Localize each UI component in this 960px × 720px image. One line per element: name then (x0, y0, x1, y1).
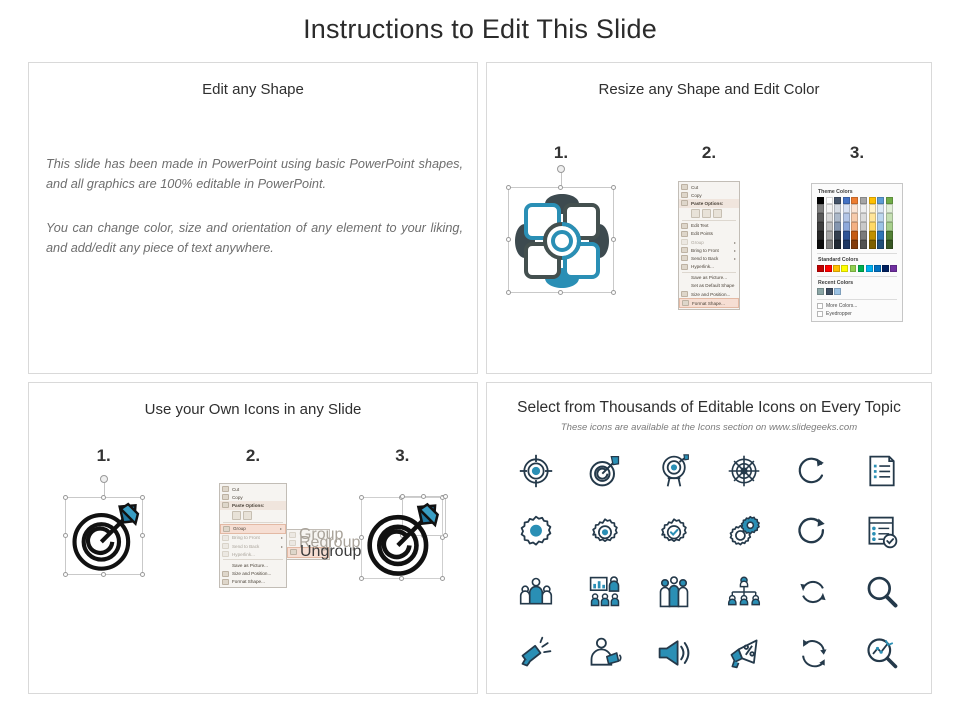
hyperlink-icon (681, 264, 688, 270)
four-square-hub-icon (509, 188, 615, 294)
step-number-2: 2. (178, 446, 327, 466)
edit-points-icon (681, 231, 688, 237)
format-shape-icon (682, 300, 689, 306)
presentation-team-icon[interactable] (584, 571, 626, 613)
menu-label: Size and Position... (691, 292, 730, 297)
color-swatch[interactable] (866, 265, 873, 272)
menu-label: Save as Picture... (232, 563, 268, 568)
recent-colors-label: Recent Colors (818, 280, 897, 286)
size-position-icon (222, 571, 229, 577)
panel-use-own-icons: Use your Own Icons in any Slide 1. 2. 3. (28, 382, 478, 694)
color-swatch[interactable] (869, 240, 876, 249)
resize-handle-bottom-right[interactable] (140, 572, 145, 577)
color-swatch[interactable] (826, 213, 833, 222)
group-icon (223, 526, 230, 532)
step-number-1: 1. (487, 143, 635, 163)
resize-handle-top-left[interactable] (506, 185, 511, 190)
color-swatch[interactable] (833, 265, 840, 272)
megaphone-icon[interactable] (515, 632, 557, 674)
palette-divider (817, 276, 897, 277)
icon-gallery-grid (501, 441, 917, 683)
figure-context-menu-group: Cut Copy Paste Options: Group▸ Bring to … (178, 483, 327, 588)
menu-label: Paste Options: (691, 201, 723, 206)
target-stand-icon[interactable] (653, 450, 695, 492)
color-swatch[interactable] (886, 222, 893, 231)
color-swatch[interactable] (886, 231, 893, 240)
palette-divider (817, 253, 897, 254)
color-swatch[interactable] (860, 197, 867, 204)
menu-item-bring-to-front[interactable]: Bring to Front▸ (679, 246, 739, 254)
menu-label: Format Shape... (692, 301, 725, 306)
step-number-3: 3. (783, 143, 931, 163)
eyedropper-button[interactable]: Eyedropper (817, 311, 897, 317)
color-swatch[interactable] (826, 240, 833, 249)
menu-item-paste-options[interactable]: Paste Options: (220, 501, 286, 509)
palette-divider (817, 299, 897, 300)
color-swatch[interactable] (817, 231, 824, 240)
color-swatch[interactable] (817, 288, 824, 295)
description-paragraph-2: You can change color, size and orientati… (46, 219, 463, 258)
color-swatch[interactable] (817, 204, 824, 213)
color-swatch[interactable] (860, 204, 867, 213)
eyedropper-icon (817, 311, 823, 317)
menu-item-size-and-position[interactable]: Size and Position... (679, 290, 739, 298)
menu-label: Ungroup (300, 543, 361, 561)
menu-label: Send to Back (691, 256, 718, 261)
target-dart-icon[interactable] (584, 450, 626, 492)
icon-multi-selection-frame[interactable] (361, 497, 443, 579)
menu-label: Save as Picture... (691, 275, 727, 280)
menu-label: Format Shape... (232, 579, 265, 584)
color-swatch[interactable] (843, 240, 850, 249)
resize-handle-middle-right[interactable] (611, 237, 616, 242)
color-swatch[interactable] (877, 197, 884, 204)
gear-solid-icon[interactable] (515, 511, 557, 553)
color-swatch[interactable] (860, 231, 867, 240)
color-swatch[interactable] (826, 197, 833, 204)
hyperlink-icon (222, 551, 229, 557)
menu-label: Copy (691, 193, 702, 198)
menu-item-hyperlink[interactable]: Hyperlink... (679, 263, 739, 271)
theme-tint-row[interactable] (817, 213, 897, 222)
menu-item-size-and-position[interactable]: Size and Position... (220, 570, 286, 578)
gear-check-icon[interactable] (653, 511, 695, 553)
bring-front-icon (681, 247, 688, 253)
chevron-right-icon: ▸ (734, 256, 736, 261)
menu-item-group[interactable]: Group▸ (679, 238, 739, 246)
resize-handle-middle-left[interactable] (63, 533, 68, 538)
color-swatch[interactable] (886, 213, 893, 222)
group-submenu[interactable]: Group Regroup Ungroup (286, 529, 330, 560)
refresh-arrow-icon[interactable] (792, 450, 834, 492)
theme-tint-row[interactable] (817, 204, 897, 213)
theme-tint-row[interactable] (817, 222, 897, 231)
format-shape-icon (222, 579, 229, 585)
resize-handle-bottom-left[interactable] (506, 290, 511, 295)
send-back-icon (681, 255, 688, 261)
menu-item-send-to-back[interactable]: Send to Back▸ (679, 254, 739, 262)
color-swatch[interactable] (851, 204, 858, 213)
standard-colors-row[interactable] (817, 265, 897, 272)
regroup-icon (289, 540, 296, 546)
color-swatch[interactable] (850, 265, 857, 272)
color-swatch[interactable] (869, 231, 876, 240)
document-checklist-icon[interactable] (861, 450, 903, 492)
person-megaphone-icon[interactable] (584, 632, 626, 674)
menu-label: Edit Points (691, 231, 713, 236)
menu-label: Set as Default Shape (691, 283, 734, 288)
figure-color-palette: Theme Colors Standard Colors Recent Colo… (783, 173, 931, 322)
step-number-1: 1. (29, 446, 178, 466)
menu-item-copy[interactable]: Copy (679, 191, 739, 199)
more-colors-label: More Colors... (826, 303, 857, 309)
chevron-right-icon: ▸ (734, 240, 736, 245)
menu-item-paste-options[interactable]: Paste Options: (679, 199, 739, 207)
color-swatch[interactable] (817, 197, 824, 204)
color-swatch[interactable] (858, 265, 865, 272)
color-swatch[interactable] (851, 231, 858, 240)
panel-title-own-icons: Use your Own Icons in any Slide (29, 401, 477, 418)
color-swatch[interactable] (860, 222, 867, 231)
reload-arrow-icon[interactable] (792, 511, 834, 553)
color-swatch[interactable] (869, 197, 876, 204)
target-dart-icon (66, 498, 144, 576)
step-number-row-bottom: 1. 2. 3. (29, 446, 477, 466)
edit-text-icon (681, 223, 688, 229)
paste-merge-formatting-button[interactable] (702, 209, 711, 218)
menu-label: Bring to Front (691, 248, 719, 253)
more-colors-button[interactable]: More Colors... (817, 303, 897, 309)
team-standing-icon[interactable] (653, 571, 695, 613)
menu-label: Group (233, 526, 246, 531)
chevron-right-icon: ▸ (734, 248, 736, 253)
checklist-approved-icon[interactable] (861, 511, 903, 553)
menu-item-save-as-picture[interactable]: Save as Picture... (220, 561, 286, 569)
menu-item-copy[interactable]: Copy (220, 493, 286, 501)
menu-label: Hyperlink... (232, 552, 255, 557)
panel-title-edit-shape: Edit any Shape (29, 81, 477, 98)
crosshair-scope-icon[interactable] (723, 450, 765, 492)
color-swatch[interactable] (817, 240, 824, 249)
figure-context-menu: Cut Copy Paste Options: Edit Text Edit P… (635, 173, 783, 322)
color-swatch[interactable] (877, 222, 884, 231)
menu-item-edit-text[interactable]: Edit Text (679, 222, 739, 230)
paste-keep-formatting-button[interactable] (232, 511, 241, 520)
rotation-handle[interactable] (557, 165, 565, 173)
color-swatch[interactable] (886, 240, 893, 249)
color-swatch[interactable] (834, 213, 841, 222)
color-swatch[interactable] (834, 240, 841, 249)
menu-item-send-to-back[interactable]: Send to Back▸ (220, 542, 286, 550)
menu-label: Group (691, 240, 704, 245)
step-number-3: 3. (328, 446, 477, 466)
step-number-2: 2. (635, 143, 783, 163)
send-back-icon (222, 543, 229, 549)
resize-handle-top-middle[interactable] (558, 185, 563, 190)
paste-picture-button[interactable] (713, 209, 722, 218)
resize-handle-middle-left[interactable] (506, 237, 511, 242)
color-swatch[interactable] (886, 197, 893, 204)
group-icon (681, 239, 688, 245)
color-swatch[interactable] (826, 231, 833, 240)
chevron-right-icon: ▸ (280, 526, 282, 531)
menu-item-save-as-picture[interactable]: Save as Picture... (679, 274, 739, 282)
panel-title-resize-shape: Resize any Shape and Edit Color (487, 81, 931, 98)
resize-handle-top-right[interactable] (140, 495, 145, 500)
menu-item-cut[interactable]: Cut (679, 183, 739, 191)
color-swatch[interactable] (825, 265, 832, 272)
color-swatch[interactable] (843, 222, 850, 231)
rotation-handle[interactable] (100, 475, 108, 483)
color-swatch[interactable] (886, 204, 893, 213)
color-swatch[interactable] (826, 204, 833, 213)
people-group-icon[interactable] (515, 571, 557, 613)
step-number-row-top: 1. 2. 3. (487, 143, 931, 163)
paste-option-buttons (679, 208, 739, 219)
description-paragraph-1: This slide has been made in PowerPoint u… (46, 155, 463, 194)
color-swatch[interactable] (890, 265, 897, 272)
group-icon (289, 532, 296, 538)
shape-selection-frame[interactable] (508, 187, 614, 293)
menu-divider (682, 220, 736, 221)
resize-handle-top-left[interactable] (63, 495, 68, 500)
cut-icon (681, 184, 688, 190)
resize-handle-bottom-middle[interactable] (558, 290, 563, 295)
color-swatch[interactable] (877, 204, 884, 213)
color-swatch[interactable] (877, 231, 884, 240)
panel-subtitle-icons-source: These icons are available at the Icons s… (487, 422, 931, 433)
loudspeaker-icon[interactable] (653, 632, 695, 674)
theme-colors-tint-rows[interactable] (817, 204, 897, 249)
icon-context-menu[interactable]: Cut Copy Paste Options: Group▸ Bring to … (219, 483, 287, 588)
color-swatch[interactable] (860, 213, 867, 222)
recent-colors-row[interactable] (817, 288, 897, 295)
resize-handle-top-middle[interactable] (101, 495, 106, 500)
menu-label: Size and Position... (232, 571, 271, 576)
resize-handle-bottom-right[interactable] (611, 290, 616, 295)
menu-divider (223, 522, 283, 523)
color-swatch[interactable] (843, 204, 850, 213)
menu-label: Cut (232, 487, 239, 492)
sync-arrows-icon[interactable] (792, 571, 834, 613)
menu-item-group[interactable]: Group▸ (220, 524, 286, 534)
color-swatch[interactable] (882, 265, 889, 272)
step-figure-row-bottom: Cut Copy Paste Options: Group▸ Bring to … (29, 483, 477, 588)
circular-arrows-icon[interactable] (792, 632, 834, 674)
menu-item-cut[interactable]: Cut (220, 485, 286, 493)
resize-handle-top-right[interactable] (611, 185, 616, 190)
menu-divider (682, 272, 736, 273)
chevron-right-icon: ▸ (281, 544, 283, 549)
menu-label: Edit Text (691, 223, 709, 228)
figure-grouped-icon (29, 483, 178, 588)
menu-item-bring-to-front[interactable]: Bring to Front▸ (220, 534, 286, 542)
megaphone-discount-icon[interactable] (723, 632, 765, 674)
size-position-icon (681, 291, 688, 297)
menu-item-set-default-shape[interactable]: Set as Default Shape (679, 282, 739, 290)
color-picker-dropdown[interactable]: Theme Colors Standard Colors Recent Colo… (811, 183, 903, 322)
org-chart-icon[interactable] (723, 571, 765, 613)
color-swatch[interactable] (817, 265, 824, 272)
color-swatch[interactable] (817, 213, 824, 222)
menu-label: Bring to Front (232, 535, 260, 540)
paste-option-buttons (220, 510, 286, 521)
page-title: Instructions to Edit This Slide (0, 14, 960, 45)
color-swatch[interactable] (817, 222, 824, 231)
step-figure-row-top: Cut Copy Paste Options: Edit Text Edit P… (487, 173, 931, 322)
color-swatch[interactable] (877, 240, 884, 249)
color-swatch[interactable] (843, 213, 850, 222)
panel-edit-any-shape: Edit any Shape This slide has been made … (28, 62, 478, 374)
theme-tint-row[interactable] (817, 231, 897, 240)
color-swatch[interactable] (841, 265, 848, 272)
resize-handle-bottom-left[interactable] (63, 572, 68, 577)
color-swatch[interactable] (877, 213, 884, 222)
magnifier-analytics-icon[interactable] (861, 632, 903, 674)
panel-editable-icons: Select from Thousands of Editable Icons … (486, 382, 932, 694)
color-swatch[interactable] (843, 231, 850, 240)
figure-selected-shape (487, 173, 635, 322)
ungroup-icon (290, 549, 297, 555)
menu-label: Paste Options: (232, 503, 264, 508)
color-swatch[interactable] (851, 197, 858, 204)
theme-colors-base-row[interactable] (817, 197, 897, 204)
color-swatch[interactable] (851, 240, 858, 249)
crosshair-target-icon[interactable] (515, 450, 557, 492)
menu-label: Hyperlink... (691, 264, 714, 269)
target-dart-icon (362, 498, 444, 580)
standard-colors-label: Standard Colors (818, 257, 897, 263)
magnifier-icon[interactable] (861, 571, 903, 613)
color-swatch[interactable] (834, 197, 841, 204)
gear-dot-icon[interactable] (584, 511, 626, 553)
resize-handle-bottom-middle[interactable] (101, 572, 106, 577)
menu-label: Copy (232, 495, 243, 500)
theme-tint-row[interactable] (817, 240, 897, 249)
color-swatch[interactable] (826, 288, 833, 295)
palette-icon (817, 303, 823, 309)
panel-resize-shape: Resize any Shape and Edit Color 1. 2. 3. (486, 62, 932, 374)
color-swatch[interactable] (834, 231, 841, 240)
menu-label: Send to Back (232, 544, 259, 549)
color-swatch[interactable] (869, 213, 876, 222)
color-swatch[interactable] (834, 222, 841, 231)
icon-selection-frame[interactable] (65, 497, 143, 575)
menu-divider (223, 559, 283, 560)
menu-item-hyperlink[interactable]: Hyperlink... (220, 550, 286, 558)
color-swatch[interactable] (874, 265, 881, 272)
paste-icon (681, 200, 688, 206)
paste-keep-formatting-button[interactable] (691, 209, 700, 218)
color-swatch[interactable] (869, 222, 876, 231)
submenu-item-ungroup[interactable]: Ungroup (287, 547, 329, 557)
color-swatch[interactable] (826, 222, 833, 231)
theme-colors-label: Theme Colors (818, 189, 897, 195)
copy-icon (222, 494, 229, 500)
menu-label: Cut (691, 185, 698, 190)
slide-canvas: Instructions to Edit This Slide Edit any… (0, 0, 960, 720)
color-swatch[interactable] (860, 240, 867, 249)
shape-context-menu[interactable]: Cut Copy Paste Options: Edit Text Edit P… (678, 181, 740, 310)
color-swatch[interactable] (834, 204, 841, 213)
eyedropper-label: Eyedropper (826, 311, 852, 317)
menu-item-format-shape[interactable]: Format Shape... (220, 578, 286, 586)
bring-front-icon (222, 535, 229, 541)
paste-icon (222, 502, 229, 508)
menu-item-edit-points[interactable]: Edit Points (679, 230, 739, 238)
color-swatch[interactable] (851, 222, 858, 231)
copy-icon (681, 192, 688, 198)
panel-title-editable-icons: Select from Thousands of Editable Icons … (487, 399, 931, 417)
color-swatch[interactable] (843, 197, 850, 204)
gears-pair-icon[interactable] (723, 511, 765, 553)
paste-picture-button[interactable] (243, 511, 252, 520)
menu-item-format-shape[interactable]: Format Shape... (679, 298, 739, 308)
color-swatch[interactable] (851, 213, 858, 222)
cut-icon (222, 486, 229, 492)
color-swatch[interactable] (834, 288, 841, 295)
chevron-right-icon: ▸ (281, 535, 283, 540)
color-swatch[interactable] (869, 204, 876, 213)
resize-handle-middle-right[interactable] (140, 533, 145, 538)
